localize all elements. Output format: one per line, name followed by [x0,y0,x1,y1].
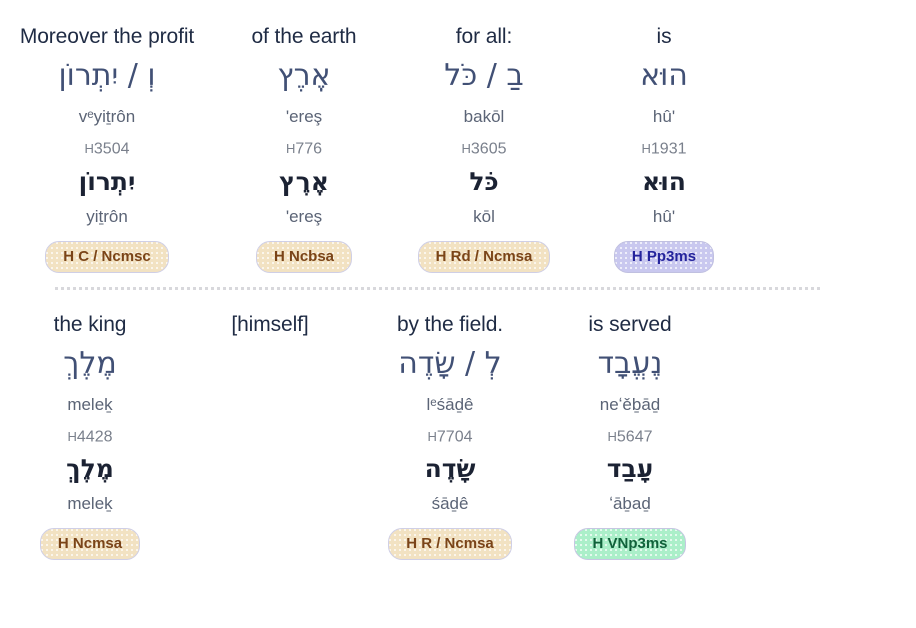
strongs-prefix: H [68,429,77,444]
word-gloss: is [657,24,672,50]
strongs-number[interactable]: H4428 [68,426,113,449]
strongs-prefix: H [642,141,651,156]
row-divider-wrap [0,273,916,290]
hebrew-surface-form[interactable]: נֶעֱבָד [598,340,663,388]
lemma-transliteration: meleḵ [67,492,112,516]
morphology-badge[interactable]: H Ncmsa [40,528,140,560]
word-gloss: is served [588,312,671,338]
word-gloss: [himself] [231,312,308,338]
lemma-transliteration: 'ereş [286,205,322,229]
hebrew-surface-form[interactable]: מֶלֶךְ [63,340,117,388]
interlinear-word-1-0[interactable]: the king מֶלֶךְ meleḵ H4428 מֶלֶךְ meleḵ… [0,312,180,561]
lemma-transliteration: śāḏê [432,492,469,516]
strongs-prefix: H [462,141,471,156]
interlinear-word-0-3[interactable]: is הוּא hû' H1931 הוּא hû' H Pp3ms [574,24,754,273]
morphology-badge[interactable]: H Ncbsa [256,241,352,273]
hebrew-lemma[interactable]: שָׂדֶה [425,449,476,489]
strongs-digits: 3504 [94,141,130,158]
strongs-digits: 3605 [471,141,507,158]
hebrew-surface-form[interactable]: הוּא [640,52,688,100]
hebrew-surface-form[interactable]: בַ / כֹּל [444,52,523,100]
strongs-digits: 5647 [617,428,653,445]
hebrew-surface-form[interactable]: וְ / יִתְרוֹן [58,52,155,100]
surface-transliteration: neʻěḇāḏ [600,392,661,417]
lemma-transliteration: yiṯrôn [86,205,128,229]
interlinear-word-supplied[interactable]: [himself] [180,312,360,338]
verse-line-2: the king מֶלֶךְ meleḵ H4428 מֶלֶךְ meleḵ… [0,290,916,561]
hebrew-lemma[interactable]: יִתְרוֹן [79,162,136,202]
lemma-transliteration: kōl [473,205,495,229]
morphology-badge[interactable]: H Pp3ms [614,241,714,273]
morphology-badge[interactable]: H VNp3ms [574,528,685,560]
morphology-badge[interactable]: H R / Ncmsa [388,528,512,560]
strongs-number[interactable]: H5647 [608,426,653,449]
morphology-badge[interactable]: H C / Ncmsc [45,241,169,273]
hebrew-surface-form[interactable]: אִֶרֶץ [277,52,330,100]
interlinear-word-0-2[interactable]: for all: בַ / כֹּל bakōl H3605 כֹּל kōl … [394,24,574,273]
word-gloss: by the field. [397,312,503,338]
hebrew-lemma[interactable]: אִֶרֶץ [279,162,329,202]
strongs-number[interactable]: H776 [286,138,322,161]
surface-transliteration: bakōl [464,104,505,129]
interlinear-viewer: Moreover the profit וְ / יִתְרוֹן vᵉyiṯr… [0,0,916,628]
strongs-digits: 1931 [651,141,687,158]
word-gloss: the king [54,312,127,338]
lemma-transliteration: ʻāḇaḏ [609,492,651,516]
word-gloss: of the earth [251,24,356,50]
lemma-transliteration: hû' [653,205,675,229]
strongs-digits: 776 [295,141,322,158]
strongs-number[interactable]: H1931 [642,138,687,161]
strongs-digits: 7704 [437,428,473,445]
interlinear-word-0-0[interactable]: Moreover the profit וְ / יִתְרוֹן vᵉyiṯr… [0,24,214,273]
strongs-digits: 4428 [77,428,113,445]
hebrew-lemma[interactable]: עָבַד [607,449,654,489]
strongs-prefix: H [85,141,94,156]
word-gloss: Moreover the profit [20,24,194,50]
strongs-prefix: H [608,429,617,444]
strongs-prefix: H [428,429,437,444]
morphology-badge[interactable]: H Rd / Ncmsa [418,241,551,273]
hebrew-lemma[interactable]: כֹּל [469,162,498,202]
surface-transliteration: vᵉyiṯrôn [79,104,135,129]
strongs-number[interactable]: H3504 [85,138,130,161]
strongs-number[interactable]: H3605 [462,138,507,161]
surface-transliteration: meleḵ [67,392,112,417]
verse-line-1: Moreover the profit וְ / יִתְרוֹן vᵉyiṯr… [0,0,916,273]
surface-transliteration: lᵉśāḏê [427,392,474,417]
interlinear-word-1-3[interactable]: is served נֶעֱבָד neʻěḇāḏ H5647 עָבַד ʻā… [540,312,720,561]
surface-transliteration: 'ereş [286,104,322,129]
interlinear-word-1-2[interactable]: by the field. לְ / שָׂדֶה lᵉśāḏê H7704 ש… [360,312,540,561]
strongs-number[interactable]: H7704 [428,426,473,449]
hebrew-lemma[interactable]: הוּא [642,162,686,202]
word-gloss: for all: [456,24,512,50]
surface-transliteration: hû' [653,104,675,129]
hebrew-surface-form[interactable]: לְ / שָׂדֶה [398,340,501,388]
interlinear-word-0-1[interactable]: of the earth אִֶרֶץ 'ereş H776 אִֶרֶץ 'e… [214,24,394,273]
hebrew-lemma[interactable]: מֶלֶךְ [66,449,114,489]
strongs-prefix: H [286,141,295,156]
